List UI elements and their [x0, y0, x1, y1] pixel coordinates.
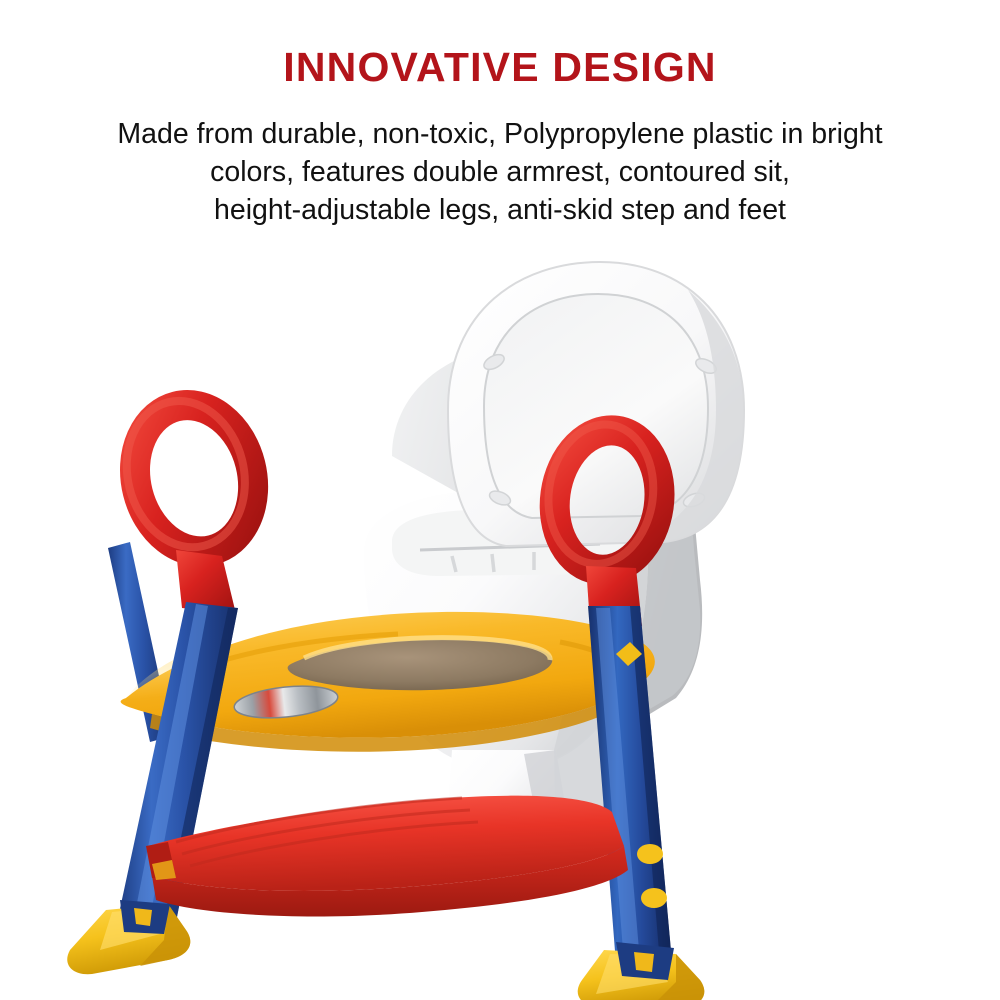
description-line-2: colors, features double armrest, contour…: [60, 153, 940, 191]
product-image: [0, 250, 1000, 1000]
description-line-3: height-adjustable legs, anti-skid step a…: [60, 191, 940, 229]
adjust-button: [641, 888, 667, 908]
toilet-unit: [364, 262, 744, 880]
page-title: INNOVATIVE DESIGN: [283, 46, 716, 89]
product-feature-panel: INNOVATIVE DESIGN Made from durable, non…: [0, 0, 1000, 1000]
lid-inner-oval: [484, 294, 708, 518]
toilet-lid: [448, 262, 744, 546]
anti-skid-step: [146, 796, 628, 917]
adjust-button: [637, 844, 663, 864]
product-description: Made from durable, non-toxic, Polypropyl…: [60, 115, 940, 230]
description-line-1: Made from durable, non-toxic, Polypropyl…: [60, 115, 940, 153]
left-foot: [67, 900, 190, 974]
right-foot: [578, 942, 705, 1000]
left-handle: [112, 387, 269, 566]
